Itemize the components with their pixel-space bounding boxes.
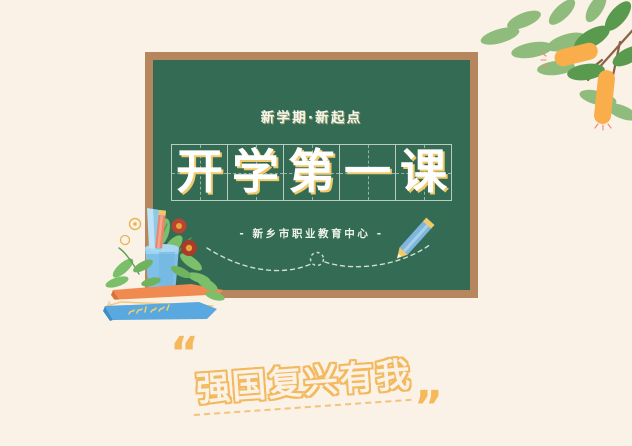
- title-character: 学: [228, 145, 283, 200]
- book-stack-illustration: [95, 196, 227, 321]
- title-grid-cell: 开: [171, 144, 228, 201]
- title-grid-cell: 课: [395, 144, 452, 201]
- poster-canvas: 新学期·新起点 开 学 第 一 课 - 新乡市职业教育中心 -: [0, 0, 632, 446]
- title-grid-cell: 学: [227, 144, 284, 201]
- title-grid-cell: 一: [339, 144, 396, 201]
- close-quote-icon: ”: [414, 386, 444, 430]
- board-subtitle: 新学期·新起点: [153, 106, 470, 126]
- title-grid-cell: 第: [283, 144, 340, 201]
- slogan-block: “ 强国复兴有我 ”: [0, 330, 632, 446]
- title-character: 开: [172, 145, 227, 200]
- title-grid-row: 开 学 第 一 课: [153, 144, 470, 201]
- title-character: 第: [284, 145, 339, 200]
- title-character: 课: [396, 145, 451, 200]
- leaf-branch-icon: [470, 0, 632, 144]
- blue-pencil-icon: [381, 210, 443, 272]
- title-character: 一: [340, 145, 395, 200]
